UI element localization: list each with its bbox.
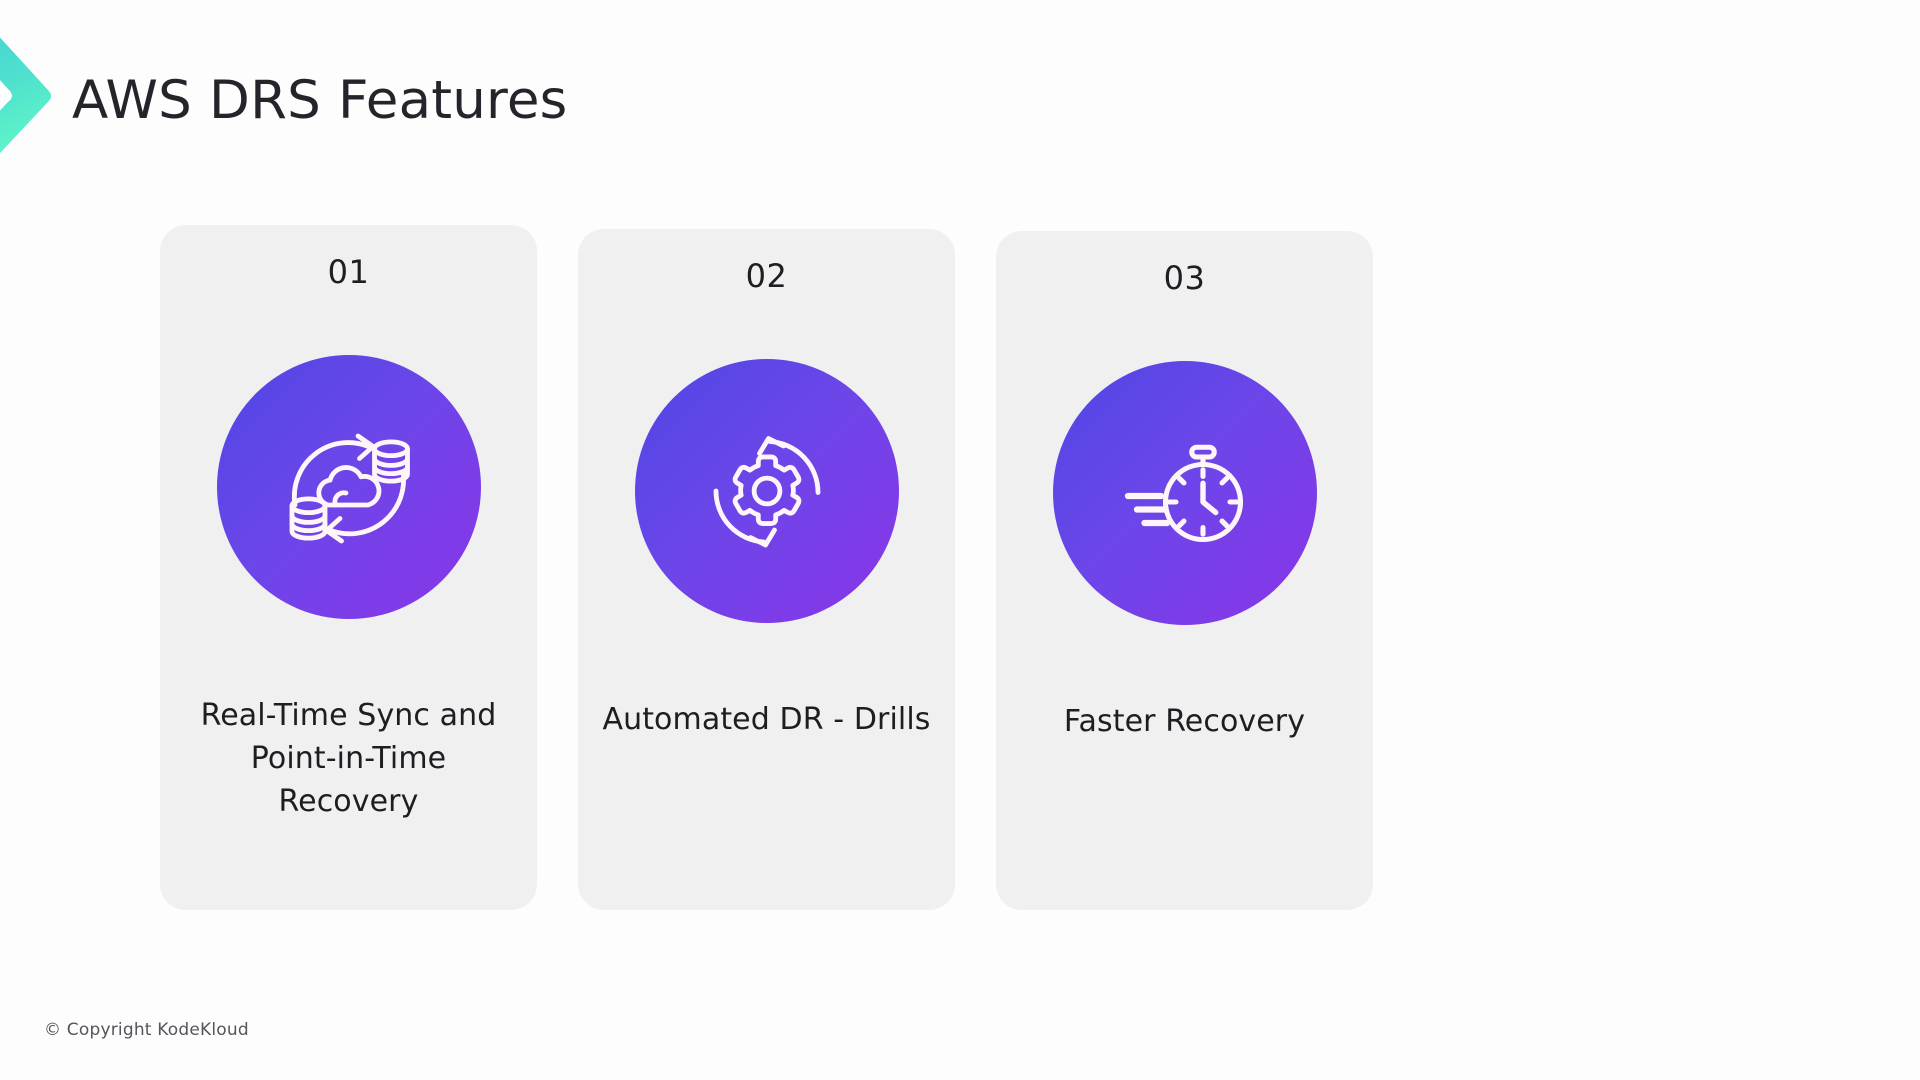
footer-copyright: © Copyright KodeKloud [44,1020,249,1040]
page-title: AWS DRS Features [72,72,1172,130]
card-number-1: 01 [328,253,370,291]
feature-card-1[interactable]: 01 [160,225,537,910]
card-caption-1: Real-Time Sync and Point-in-Time Recover… [184,695,514,823]
slide-header: AWS DRS Features [72,72,1172,130]
card-number-2: 02 [746,257,788,295]
feature-cards-row: 01 [160,225,1373,910]
fast-stopwatch-icon [1053,361,1317,625]
card-number-3: 03 [1164,259,1206,297]
card-caption-2: Automated DR - Drills [602,699,932,742]
cloud-database-sync-icon [217,355,481,619]
chevron-right-accent-icon [0,18,66,170]
card-caption-3: Faster Recovery [1020,701,1350,744]
feature-card-2[interactable]: 02 Automated DR - Drills [578,229,955,910]
gear-refresh-icon [635,359,899,623]
feature-card-3[interactable]: 03 [996,231,1373,910]
